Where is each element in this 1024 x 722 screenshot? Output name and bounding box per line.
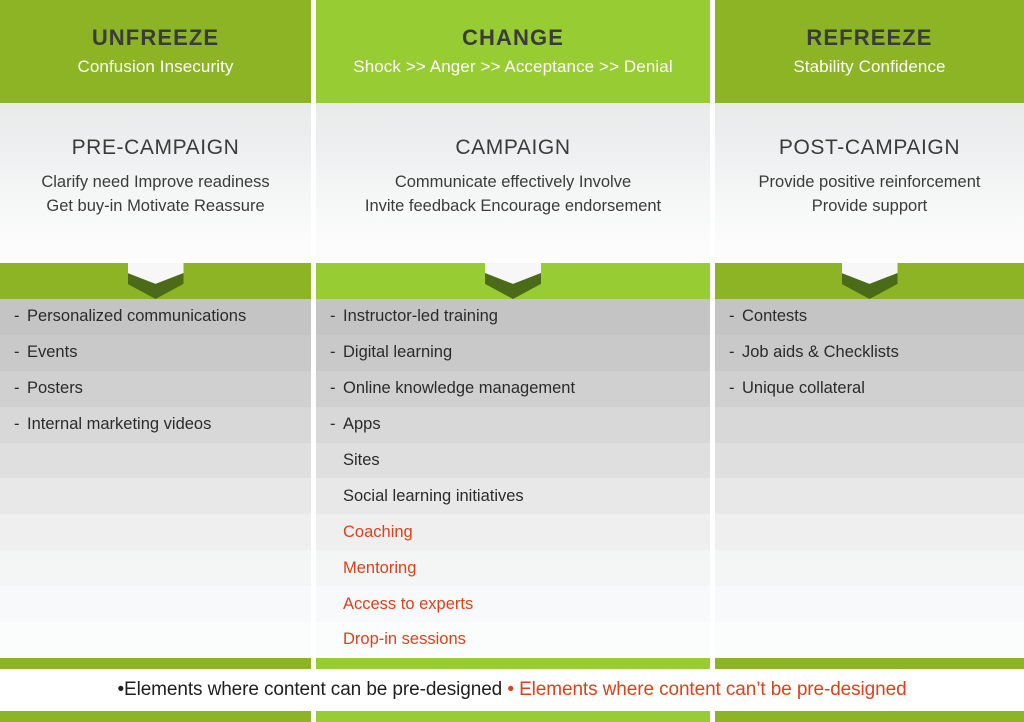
footer-bar-top-segment-1 bbox=[0, 658, 311, 669]
list-item[interactable]: -Personalized communications bbox=[0, 299, 311, 335]
divider-row bbox=[0, 263, 1024, 299]
list-item-label: Social learning initiatives bbox=[343, 487, 524, 506]
campaign-card-post: POST-CAMPAIGN Provide positive reinforce… bbox=[715, 103, 1024, 263]
list-item-dash: - bbox=[729, 343, 742, 362]
list-item-empty bbox=[715, 443, 1024, 479]
list-column-campaign: -Instructor-led training-Digital learnin… bbox=[316, 299, 710, 658]
footer-bar-top bbox=[0, 658, 1024, 669]
list-item[interactable]: Coaching bbox=[316, 514, 710, 550]
footer-bar-fill bbox=[316, 658, 710, 669]
campaign-line2-pre: Get buy-in Motivate Reassure bbox=[46, 195, 264, 219]
campaign-row: PRE-CAMPAIGN Clarify need Improve readin… bbox=[0, 103, 1024, 263]
phase-subtitle-refreeze: Stability Confidence bbox=[793, 57, 945, 77]
campaign-title-main: CAMPAIGN bbox=[455, 136, 570, 160]
campaign-column-post: POST-CAMPAIGN Provide positive reinforce… bbox=[715, 103, 1024, 263]
footer-bar-fill bbox=[316, 711, 710, 722]
campaign-column-pre: PRE-CAMPAIGN Clarify need Improve readin… bbox=[0, 103, 311, 263]
list-item-empty bbox=[715, 622, 1024, 658]
list-item-dash: - bbox=[729, 379, 742, 398]
phase-card-unfreeze: UNFREEZE Confusion Insecurity bbox=[0, 0, 311, 103]
phase-subtitle-change: Shock >> Anger >> Acceptance >> Denial bbox=[353, 57, 672, 77]
list-item-label: Unique collateral bbox=[742, 379, 865, 398]
list-item-empty bbox=[715, 478, 1024, 514]
list-post-campaign: -Contests-Job aids & Checklists-Unique c… bbox=[715, 299, 1024, 658]
list-item-empty bbox=[0, 586, 311, 622]
phase-header-row: UNFREEZE Confusion Insecurity CHANGE Sho… bbox=[0, 0, 1024, 103]
list-item[interactable]: -Posters bbox=[0, 371, 311, 407]
campaign-card-pre: PRE-CAMPAIGN Clarify need Improve readin… bbox=[0, 103, 311, 263]
footer-bar-bottom-segment-1 bbox=[0, 711, 311, 722]
list-item-label: Coaching bbox=[343, 523, 413, 542]
footer-bar-fill bbox=[715, 711, 1024, 722]
list-item-empty bbox=[0, 514, 311, 550]
legend-label-not-pre-designed: Elements where content can’t be pre-desi… bbox=[519, 679, 906, 700]
list-item-dash: - bbox=[330, 307, 343, 326]
footer-bar-top-segment-3 bbox=[715, 658, 1024, 669]
footer-bar-fill bbox=[0, 658, 311, 669]
list-column-post-campaign: -Contests-Job aids & Checklists-Unique c… bbox=[715, 299, 1024, 658]
list-item-label: Mentoring bbox=[343, 559, 416, 578]
list-item-dash: - bbox=[14, 343, 27, 362]
list-item-label: Instructor-led training bbox=[343, 307, 498, 326]
campaign-line2-post: Provide support bbox=[812, 195, 928, 219]
list-item-label: Contests bbox=[742, 307, 807, 326]
list-item[interactable]: Access to experts bbox=[316, 586, 710, 622]
campaign-line1-pre: Clarify need Improve readiness bbox=[41, 171, 269, 195]
campaign-title-post: POST-CAMPAIGN bbox=[779, 136, 960, 160]
list-item-empty bbox=[715, 586, 1024, 622]
list-item-empty bbox=[0, 478, 311, 514]
footer-bar-fill bbox=[0, 711, 311, 722]
phase-column-refreeze: REFREEZE Stability Confidence bbox=[715, 0, 1024, 103]
list-item-empty bbox=[715, 550, 1024, 586]
list-item-label: Online knowledge management bbox=[343, 379, 575, 398]
list-item-empty bbox=[0, 443, 311, 479]
list-item[interactable]: -Events bbox=[0, 335, 311, 371]
list-item[interactable]: -Unique collateral bbox=[715, 371, 1024, 407]
campaign-line1-post: Provide positive reinforcement bbox=[759, 171, 981, 195]
list-item-empty bbox=[715, 407, 1024, 443]
phase-card-refreeze: REFREEZE Stability Confidence bbox=[715, 0, 1024, 103]
phase-column-change: CHANGE Shock >> Anger >> Acceptance >> D… bbox=[316, 0, 710, 103]
divider-bar-1 bbox=[0, 263, 311, 299]
list-item[interactable]: -Contests bbox=[715, 299, 1024, 335]
list-item[interactable]: -Internal marketing videos bbox=[0, 407, 311, 443]
list-item[interactable]: Drop-in sessions bbox=[316, 622, 710, 658]
footer-bar-bottom bbox=[0, 711, 1024, 722]
list-item[interactable]: Sites bbox=[316, 443, 710, 479]
list-item[interactable]: -Online knowledge management bbox=[316, 371, 710, 407]
footer-bar-top-segment-2 bbox=[316, 658, 710, 669]
footer-bar-bottom-segment-3 bbox=[715, 711, 1024, 722]
list-campaign: -Instructor-led training-Digital learnin… bbox=[316, 299, 710, 658]
list-item-dash: - bbox=[14, 379, 27, 398]
campaign-line1-main: Communicate effectively Involve bbox=[395, 171, 631, 195]
divider-bar-3 bbox=[715, 263, 1024, 299]
campaign-line2-main: Invite feedback Encourage endorsement bbox=[365, 195, 661, 219]
phase-card-change: CHANGE Shock >> Anger >> Acceptance >> D… bbox=[316, 0, 710, 103]
list-item-empty bbox=[0, 622, 311, 658]
list-item-dash: - bbox=[729, 307, 742, 326]
legend-text: •Elements where content can be pre-desig… bbox=[117, 679, 906, 701]
footer-bar-fill bbox=[715, 658, 1024, 669]
list-item[interactable]: -Instructor-led training bbox=[316, 299, 710, 335]
list-item-label: Job aids & Checklists bbox=[742, 343, 899, 362]
list-item-empty bbox=[715, 514, 1024, 550]
list-item-dash: - bbox=[330, 415, 343, 434]
phase-title-unfreeze: UNFREEZE bbox=[92, 26, 219, 50]
list-item-dash: - bbox=[330, 379, 343, 398]
campaign-column-main: CAMPAIGN Communicate effectively Involve… bbox=[316, 103, 710, 263]
list-pre-campaign: -Personalized communications-Events-Post… bbox=[0, 299, 311, 658]
phase-column-unfreeze: UNFREEZE Confusion Insecurity bbox=[0, 0, 311, 103]
list-item-label: Drop-in sessions bbox=[343, 630, 466, 649]
list-item[interactable]: Mentoring bbox=[316, 550, 710, 586]
list-item-empty bbox=[0, 550, 311, 586]
list-item[interactable]: -Digital learning bbox=[316, 335, 710, 371]
list-item-label: Access to experts bbox=[343, 595, 473, 614]
legend-bullet-red: • bbox=[507, 679, 514, 700]
list-item-label: Personalized communications bbox=[27, 307, 246, 326]
list-item-dash: - bbox=[14, 415, 27, 434]
list-item[interactable]: Social learning initiatives bbox=[316, 478, 710, 514]
list-column-pre-campaign: -Personalized communications-Events-Post… bbox=[0, 299, 311, 658]
list-item-label: Apps bbox=[343, 415, 381, 434]
legend: •Elements where content can be pre-desig… bbox=[0, 669, 1024, 711]
divider-column-1 bbox=[0, 263, 311, 299]
list-item[interactable]: -Job aids & Checklists bbox=[715, 335, 1024, 371]
footer-bar-bottom-segment-2 bbox=[316, 711, 710, 722]
divider-bar-2 bbox=[316, 263, 710, 299]
list-item-dash: - bbox=[330, 343, 343, 362]
phase-subtitle-unfreeze: Confusion Insecurity bbox=[77, 57, 233, 77]
list-item-label: Events bbox=[27, 343, 77, 362]
campaign-title-pre: PRE-CAMPAIGN bbox=[72, 136, 240, 160]
divider-column-3 bbox=[715, 263, 1024, 299]
phase-title-change: CHANGE bbox=[462, 26, 564, 50]
list-item-label: Sites bbox=[343, 451, 380, 470]
list-item[interactable]: -Apps bbox=[316, 407, 710, 443]
list-item-label: Digital learning bbox=[343, 343, 452, 362]
legend-label-pre-designed: Elements where content can be pre-design… bbox=[124, 679, 502, 700]
list-item-label: Internal marketing videos bbox=[27, 415, 211, 434]
list-item-label: Posters bbox=[27, 379, 83, 398]
change-management-infographic: UNFREEZE Confusion Insecurity CHANGE Sho… bbox=[0, 0, 1024, 722]
list-row: -Personalized communications-Events-Post… bbox=[0, 299, 1024, 658]
divider-column-2 bbox=[316, 263, 710, 299]
phase-title-refreeze: REFREEZE bbox=[806, 26, 932, 50]
campaign-card-main: CAMPAIGN Communicate effectively Involve… bbox=[316, 103, 710, 263]
list-item-dash: - bbox=[14, 307, 27, 326]
